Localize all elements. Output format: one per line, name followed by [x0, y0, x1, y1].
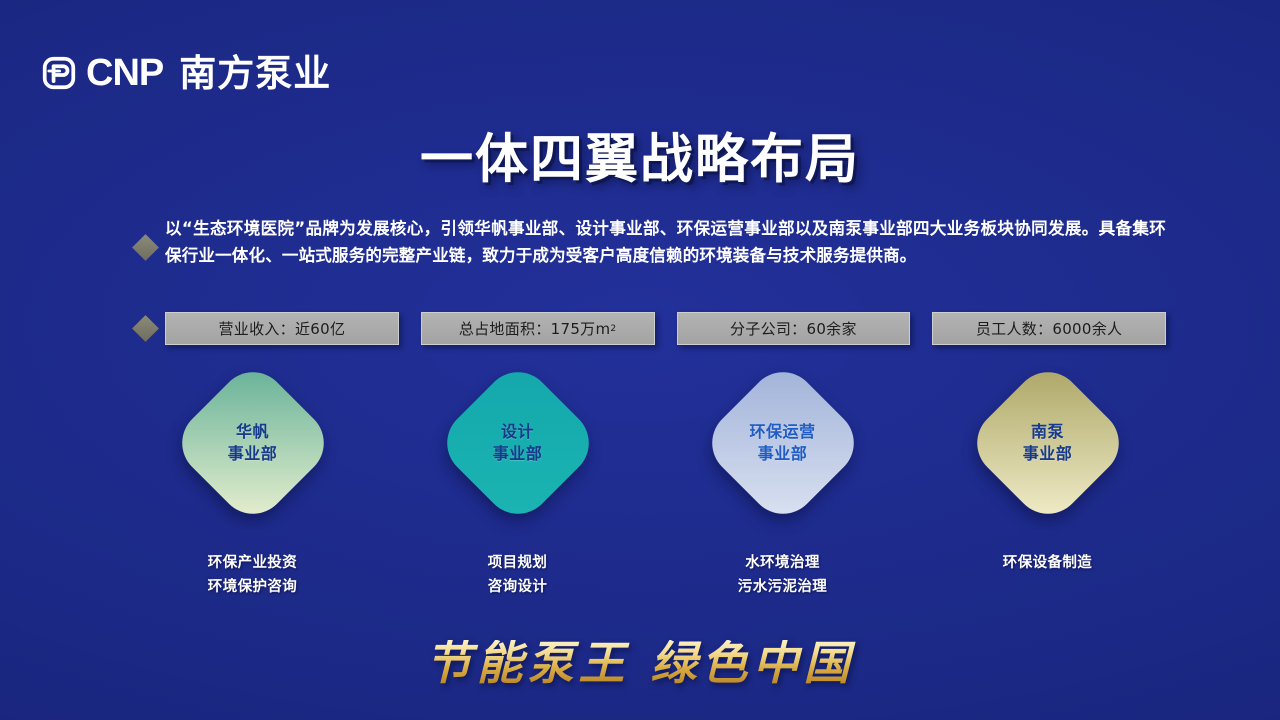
diamond-bullet-icon: [132, 315, 159, 342]
slide-canvas: CNP 南方泵业 一体四翼战略布局 以“生态环境医院”品牌为发展核心，引领华帆事…: [0, 0, 1280, 720]
pillar-caption-line1: 水环境治理: [738, 552, 827, 576]
pillar-sheji: 设计 事业部 项目规划 咨询设计: [385, 360, 650, 600]
pillar-caption: 水环境治理 污水污泥治理: [738, 552, 827, 600]
page-title: 一体四翼战略布局: [0, 130, 1280, 189]
pillar-name-line2: 事业部: [228, 443, 278, 465]
pillar-caption-line2: 污水污泥治理: [738, 576, 827, 600]
stat-badge-revenue: 营业收入：近60亿: [165, 312, 399, 345]
pillar-name-line2: 事业部: [749, 443, 815, 465]
pillar-name-line2: 事业部: [1023, 443, 1073, 465]
cnp-monogram-icon: [42, 56, 76, 90]
pillar-shape-wrap: 华帆 事业部: [170, 360, 336, 526]
pillar-nanbeng: 南泵 事业部 环保设备制造: [915, 360, 1180, 600]
pillar-caption: 环保产业投资 环境保护咨询: [208, 552, 297, 600]
stat-badge-label: 营业收入：近60亿: [218, 318, 345, 339]
pillar-name: 设计 事业部: [493, 421, 543, 465]
pillar-name-line1: 环保运营: [749, 421, 815, 443]
intro-paragraph: 以“生态环境医院”品牌为发展核心，引领华帆事业部、设计事业部、环保运营事业部以及…: [165, 216, 1166, 269]
pillar-huafan: 华帆 事业部 环保产业投资 环境保护咨询: [120, 360, 385, 600]
stat-badge-label: 分子公司：60余家: [730, 318, 857, 339]
pillar-name-line1: 华帆: [228, 421, 278, 443]
pillar-caption-line1: 环保设备制造: [1003, 552, 1092, 576]
pillars-row: 华帆 事业部 环保产业投资 环境保护咨询 设计 事业部 项目规划 咨询设计: [120, 360, 1180, 600]
stat-badge-subsidiaries: 分子公司：60余家: [677, 312, 911, 345]
pillar-name-line2: 事业部: [493, 443, 543, 465]
stat-badge-land-area: 总占地面积：175万m2: [421, 312, 655, 345]
pillar-name: 环保运营 事业部: [749, 421, 815, 465]
logo-wordmark: CNP: [86, 54, 163, 92]
intro-block: 以“生态环境医院”品牌为发展核心，引领华帆事业部、设计事业部、环保运营事业部以及…: [136, 216, 1166, 269]
pillar-name-line1: 南泵: [1023, 421, 1073, 443]
stats-block: 营业收入：近60亿 总占地面积：175万m2 分子公司：60余家 员工人数：60…: [136, 312, 1166, 345]
pillar-name: 南泵 事业部: [1023, 421, 1073, 465]
logo-chinese-name: 南方泵业: [179, 55, 331, 92]
pillar-caption-line2: 环境保护咨询: [208, 576, 297, 600]
pillar-shape-wrap: 环保运营 事业部: [700, 360, 866, 526]
stat-badge-label: 员工人数：6000余人: [976, 318, 1122, 339]
stat-badge-employees: 员工人数：6000余人: [932, 312, 1166, 345]
pillar-caption: 项目规划 咨询设计: [488, 552, 548, 600]
pillar-shape-wrap: 设计 事业部: [435, 360, 601, 526]
pillar-name: 华帆 事业部: [228, 421, 278, 465]
pillar-caption: 环保设备制造: [1003, 552, 1092, 576]
pillar-huanbaoyunying: 环保运营 事业部 水环境治理 污水污泥治理: [650, 360, 915, 600]
stat-badge-label: 总占地面积：175万m: [459, 318, 611, 339]
footer-slogan: 节能泵王 绿色中国: [0, 640, 1280, 686]
pillar-caption-line2: 咨询设计: [488, 576, 548, 600]
company-logo: CNP 南方泵业: [42, 50, 331, 96]
stats-list: 营业收入：近60亿 总占地面积：175万m2 分子公司：60余家 员工人数：60…: [165, 312, 1166, 345]
pillar-caption-line1: 环保产业投资: [208, 552, 297, 576]
pillar-caption-line1: 项目规划: [488, 552, 548, 576]
pillar-shape-wrap: 南泵 事业部: [965, 360, 1131, 526]
pillar-name-line1: 设计: [493, 421, 543, 443]
diamond-bullet-icon: [132, 234, 159, 261]
